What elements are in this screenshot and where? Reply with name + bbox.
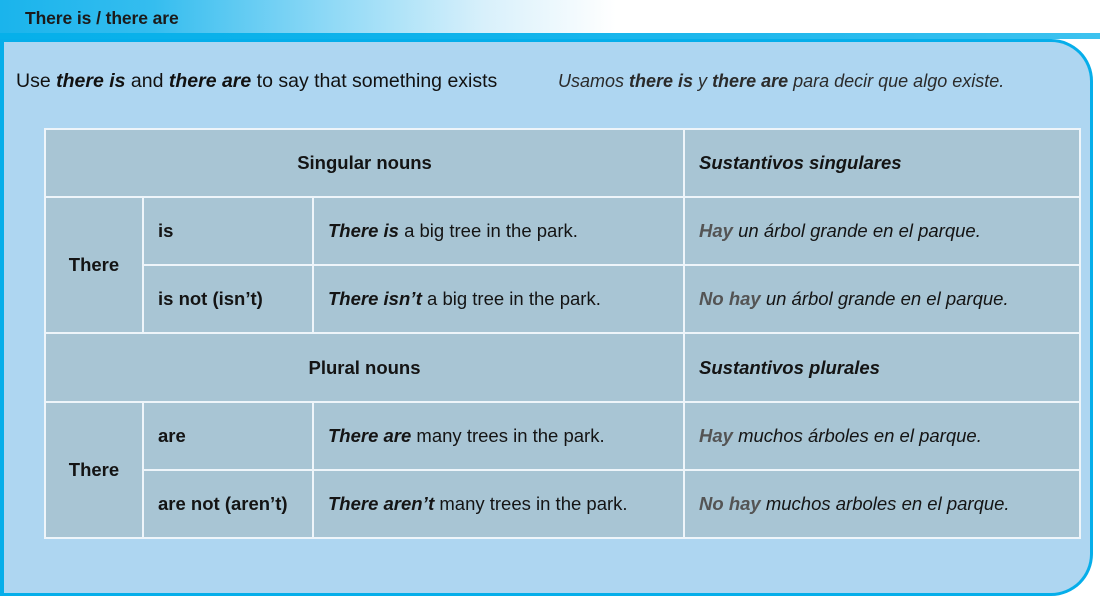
example-es-bold: Hay	[699, 220, 733, 241]
section-header-row: Singular nouns Sustantivos singulares	[45, 129, 1080, 197]
example-es-rest: un árbol grande en el parque.	[733, 220, 981, 241]
table-row: There are There are many trees in the pa…	[45, 402, 1080, 470]
example-en-bold: There are	[328, 425, 411, 446]
subject-cell: There	[45, 402, 143, 538]
example-spanish-cell: Hay un árbol grande en el parque.	[684, 197, 1080, 265]
example-en-rest: a big tree in the park.	[399, 220, 578, 241]
example-english-cell: There are many trees in the park.	[313, 402, 684, 470]
intro-en-bold-1: there is	[56, 70, 125, 92]
intro-english: Use there is and there are to say that s…	[16, 70, 497, 93]
example-spanish-cell: Hay muchos árboles en el parque.	[684, 402, 1080, 470]
verb-form-cell: are not (aren’t)	[143, 470, 313, 538]
example-en-bold: There is	[328, 220, 399, 241]
verb-form-cell: are	[143, 402, 313, 470]
example-es-bold: No hay	[699, 288, 761, 309]
intro-es-bold-2: there are	[712, 71, 788, 91]
example-es-rest: muchos arboles en el parque.	[761, 493, 1010, 514]
verb-form-cell: is	[143, 197, 313, 265]
intro-en-mid: and	[125, 70, 168, 92]
intro-spanish: Usamos there is y there are para decir q…	[558, 71, 1004, 92]
intro-es-mid: y	[693, 71, 712, 91]
section-heading-en: Plural nouns	[45, 333, 684, 401]
section-heading-es: Sustantivos plurales	[684, 333, 1080, 401]
example-english-cell: There is a big tree in the park.	[313, 197, 684, 265]
section-header-row: Plural nouns Sustantivos plurales	[45, 333, 1080, 401]
example-es-rest: muchos árboles en el parque.	[733, 425, 982, 446]
example-en-rest: many trees in the park.	[434, 493, 627, 514]
example-en-rest: many trees in the park.	[411, 425, 604, 446]
intro-en-bold-2: there are	[169, 70, 251, 92]
intro-es-post: para decir que algo existe.	[788, 71, 1004, 91]
intro-row: Use there is and there are to say that s…	[0, 66, 1060, 106]
example-es-bold: Hay	[699, 425, 733, 446]
intro-es-pre: Usamos	[558, 71, 629, 91]
intro-en-pre: Use	[16, 70, 56, 92]
table-row: There is There is a big tree in the park…	[45, 197, 1080, 265]
example-es-rest: un árbol grande en el parque.	[761, 288, 1009, 309]
verb-form-cell: is not (isn’t)	[143, 265, 313, 333]
example-english-cell: There isn’t a big tree in the park.	[313, 265, 684, 333]
section-heading-es: Sustantivos singulares	[684, 129, 1080, 197]
example-spanish-cell: No hay un árbol grande en el parque.	[684, 265, 1080, 333]
table-row: is not (isn’t) There isn’t a big tree in…	[45, 265, 1080, 333]
subject-cell: There	[45, 197, 143, 333]
intro-en-post: to say that something exists	[251, 70, 497, 92]
example-english-cell: There aren’t many trees in the park.	[313, 470, 684, 538]
slide-root: There is / there are Use there is and th…	[0, 0, 1100, 599]
example-en-bold: There isn’t	[328, 288, 422, 309]
intro-es-bold-1: there is	[629, 71, 693, 91]
grammar-table: Singular nouns Sustantivos singulares Th…	[44, 128, 1081, 539]
example-spanish-cell: No hay muchos arboles en el parque.	[684, 470, 1080, 538]
example-en-rest: a big tree in the park.	[422, 288, 601, 309]
card-left-edge	[0, 39, 4, 596]
title-bar: There is / there are	[0, 0, 1100, 39]
table-row: are not (aren’t) There aren’t many trees…	[45, 470, 1080, 538]
section-heading-en: Singular nouns	[45, 129, 684, 197]
page-title: There is / there are	[25, 8, 179, 29]
example-es-bold: No hay	[699, 493, 761, 514]
example-en-bold: There aren’t	[328, 493, 434, 514]
